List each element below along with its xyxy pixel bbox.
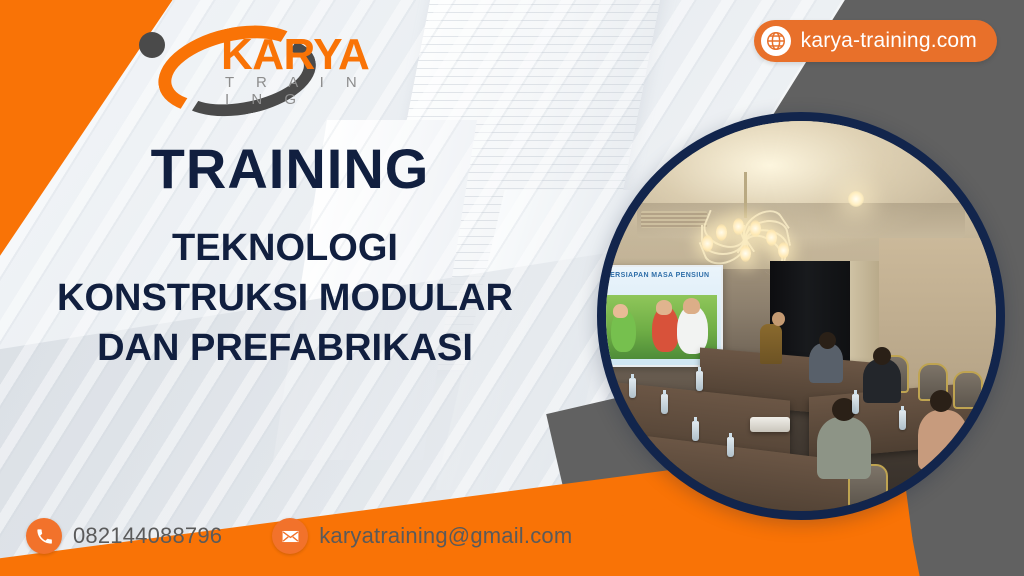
photo-attendee-4-head	[930, 390, 952, 412]
photo-bottle-6	[899, 410, 906, 430]
photo-bottle-4	[727, 437, 734, 457]
website-badge[interactable]: karya-training.com	[754, 20, 997, 62]
logo-tagline: T R A I N I N G	[225, 74, 373, 108]
subtitle-line-3: DAN PREFABRIKASI	[0, 323, 570, 373]
photo-bottle-3	[692, 421, 699, 441]
phone-number-label: 082144088796	[73, 523, 222, 549]
photo-attendee-3	[817, 417, 871, 479]
photo-attendee-1-head	[819, 332, 836, 349]
contact-row: 082144088796 karyatraining@gmail.com	[26, 518, 572, 554]
subtitle-block: TEKNOLOGI KONSTRUKSI MODULAR DAN PREFABR…	[0, 223, 570, 373]
photo-room: PERSIAPAN MASA PENSIUN	[606, 121, 996, 511]
contact-email[interactable]: karyatraining@gmail.com	[272, 518, 572, 554]
photo-spotlight	[848, 191, 864, 207]
phone-icon	[26, 518, 62, 554]
subtitle-line-2: KONSTRUKSI MODULAR	[0, 273, 570, 323]
photo-projector	[750, 417, 790, 432]
training-banner: KARYA T R A I N I N G karya-training.com…	[0, 0, 1024, 576]
photo-presenter-head	[772, 312, 785, 326]
headline-block: TRAINING TEKNOLOGI KONSTRUKSI MODULAR DA…	[0, 140, 570, 373]
website-url-label: karya-training.com	[801, 29, 977, 53]
photo-chandelier-stem	[744, 172, 747, 218]
photo-bottle-1	[696, 371, 703, 391]
photo-presenter-body	[760, 324, 782, 364]
photo-air-vent	[641, 211, 707, 229]
globe-icon	[761, 26, 791, 56]
email-label: karyatraining@gmail.com	[319, 523, 572, 549]
photo-bottle-7	[629, 378, 636, 398]
photo-bottle-5	[852, 394, 859, 414]
photo-attendee-1	[809, 343, 843, 383]
photo-attendee-4	[918, 410, 968, 470]
photo-chair-3	[953, 371, 983, 409]
photo-screen-title: PERSIAPAN MASA PENSIUN	[605, 272, 709, 279]
karya-logo: KARYA T R A I N I N G	[133, 24, 373, 96]
training-photo: PERSIAPAN MASA PENSIUN	[597, 112, 1005, 520]
page-title: TRAINING	[10, 140, 570, 199]
logo-dot-icon	[139, 32, 165, 58]
photo-attendee-2	[863, 359, 901, 403]
subtitle-line-1: TEKNOLOGI	[0, 223, 570, 273]
logo-wordmark: KARYA	[221, 30, 369, 80]
envelope-icon	[272, 518, 308, 554]
photo-bottle-2	[661, 394, 668, 414]
contact-phone[interactable]: 082144088796	[26, 518, 222, 554]
